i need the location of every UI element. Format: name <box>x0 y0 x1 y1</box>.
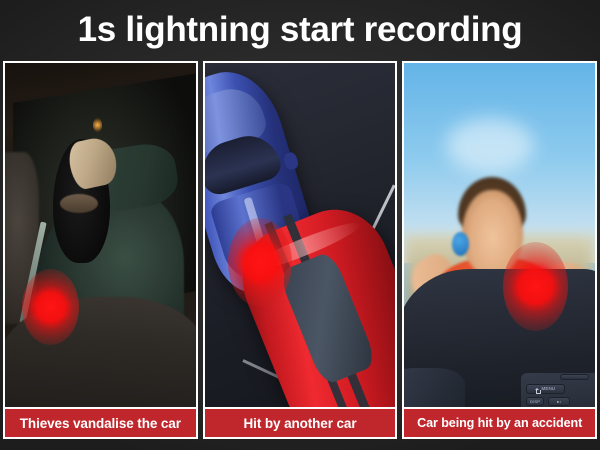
dashboard-menu-label: MENU <box>541 386 555 391</box>
balaclava-eye-slot <box>60 194 98 213</box>
cloud <box>446 118 534 173</box>
thief-scene-image <box>5 63 196 407</box>
accident-scene-image: MENU DISP ●♪ <box>404 63 595 407</box>
feature-panel-accident[interactable]: MENU DISP ●♪ Car being hit by an acciden… <box>402 61 597 439</box>
panel-caption-thief: Thieves vandalise the car <box>5 407 196 437</box>
car-seat <box>5 152 39 324</box>
panel-row: Thieves vandalise the car <box>3 61 597 439</box>
panel-caption-collision: Hit by another car <box>205 407 396 437</box>
promo-banner: 1s lightning start recording <box>0 0 600 450</box>
title-bar: 1s lightning start recording <box>0 0 600 60</box>
car-interior-background <box>5 63 196 407</box>
dashboard-menu-button[interactable]: MENU <box>526 384 565 394</box>
background-light-spot <box>93 118 103 132</box>
dashboard-audio-button[interactable]: ●♪ <box>548 397 570 406</box>
dashboard-vent-button[interactable] <box>560 374 589 380</box>
feature-panel-thief[interactable]: Thieves vandalise the car <box>3 61 198 439</box>
car-dashboard: MENU DISP ●♪ <box>404 269 595 407</box>
steering-wheel <box>404 368 465 407</box>
outdoor-background: MENU DISP ●♪ <box>404 63 595 407</box>
parking-lot-background <box>205 63 396 407</box>
collision-scene-image <box>205 63 396 407</box>
blue-ball-small <box>452 232 469 256</box>
feature-panel-collision[interactable]: Hit by another car <box>203 61 398 439</box>
dashboard-button-panel: MENU DISP ●♪ <box>521 373 595 407</box>
boy-face <box>462 190 523 276</box>
car-dash-foreground <box>5 297 196 407</box>
page-title: 1s lightning start recording <box>78 10 523 50</box>
dashboard-display-button[interactable]: DISP <box>526 397 545 406</box>
panel-caption-accident: Car being hit by an accident <box>404 407 595 437</box>
home-icon <box>535 388 539 390</box>
